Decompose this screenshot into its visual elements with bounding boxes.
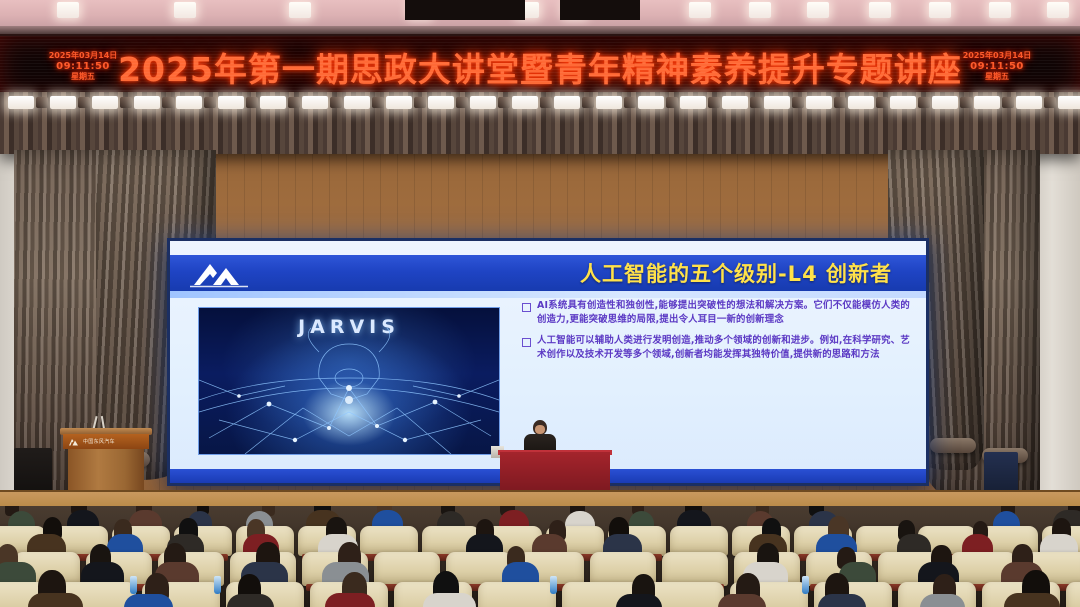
stage-light-icon <box>932 96 958 109</box>
stage-light-icon <box>176 96 202 109</box>
head-table <box>500 452 610 492</box>
audience-seat <box>662 552 728 586</box>
stage-light-housing <box>960 97 972 108</box>
stage-light-housing <box>918 97 930 108</box>
stage-light-housing <box>582 97 594 108</box>
stage-light-housing <box>78 97 90 108</box>
ceiling-light-icon <box>57 2 79 18</box>
stage-light-housing <box>36 97 48 108</box>
stage-light-icon <box>596 96 622 109</box>
audience-area <box>0 506 1080 607</box>
stage-light-icon <box>680 96 706 109</box>
led-clock-weekday: 星期五 <box>71 73 95 81</box>
stage-light-housing <box>540 97 552 108</box>
stage-light-row <box>0 96 1080 112</box>
audience-member-torso <box>616 594 662 607</box>
podium-nameplate-text: 中国东风汽车 <box>83 438 115 445</box>
led-clock-date: 2025年03月14日 <box>49 52 118 60</box>
slide-image-jarvis: JARVIS <box>198 307 500 455</box>
stage-light-housing <box>708 97 720 108</box>
audience-member-torso <box>920 594 966 607</box>
ceiling-recess <box>405 0 525 20</box>
audience-member-torso <box>818 594 866 607</box>
stage-light-housing <box>750 97 762 108</box>
stage-light-housing <box>246 97 258 108</box>
stage-light-housing <box>330 97 342 108</box>
stage-light-icon <box>722 96 748 109</box>
stage-light-icon <box>512 96 538 109</box>
water-bottle <box>802 576 809 594</box>
stage-light-icon <box>428 96 454 109</box>
list-item: AI系统具有创造性和独创性,能够提出突破性的想法和解决方案。它们不仅能模仿人类的… <box>522 299 910 327</box>
stage-light-housing <box>876 97 888 108</box>
bullet-square-icon <box>522 303 531 312</box>
led-clock-left: 2025年03月14日 09:11:50 星期五 <box>46 40 120 94</box>
stage-light-housing <box>1044 97 1056 108</box>
stage-light-icon <box>1058 96 1080 109</box>
slide-title: 人工智能的五个级别-L4 创新者 <box>170 258 892 288</box>
audience-member-torso <box>124 594 173 607</box>
stage-light-housing <box>120 97 132 108</box>
banner-headline: 2025年第一期思政大讲堂暨青年精神素养提升专题讲座 <box>120 42 960 92</box>
list-item: 人工智能可以辅助人类进行发明创造,推动多个领域的创新和进步。例如,在科学研究、艺… <box>522 334 910 362</box>
stage-light-housing <box>1002 97 1014 108</box>
stage-light-icon <box>890 96 916 109</box>
ceiling-light-icon <box>749 2 771 18</box>
ceiling-recess <box>560 0 640 20</box>
stage-light-icon <box>218 96 244 109</box>
slide-bullet-list: AI系统具有创造性和独创性,能够提出突破性的想法和解决方案。它们不仅能模仿人类的… <box>522 299 910 369</box>
stage-light-icon <box>806 96 832 109</box>
audience-seat <box>1066 582 1080 607</box>
stage-light-housing <box>498 97 510 108</box>
stage-light-icon <box>8 96 34 109</box>
stage-light-icon <box>260 96 286 109</box>
led-banner: 2025年03月14日 09:11:50 星期五 2025年第一期思政大讲堂暨青… <box>0 34 1080 100</box>
ceiling-light-icon <box>929 2 951 18</box>
podium-nameplate: 中国东风汽车 <box>63 434 149 449</box>
stage-light-housing <box>288 97 300 108</box>
podium-mountain-logo-icon <box>68 437 79 447</box>
audience-member-torso <box>325 593 375 607</box>
stage-light-icon <box>764 96 790 109</box>
ceiling-light-icon <box>1047 2 1069 18</box>
ceiling-light-icon <box>689 2 711 18</box>
led-clock-date-right: 2025年03月14日 <box>963 52 1032 60</box>
stage-light-housing <box>792 97 804 108</box>
ceiling-light-icon <box>989 2 1011 18</box>
bullet-square-icon <box>522 338 531 347</box>
stage-light-housing <box>624 97 636 108</box>
led-clock-right: 2025年03月14日 09:11:50 星期五 <box>960 40 1034 94</box>
stage-light-housing <box>834 97 846 108</box>
ai-network-graphic <box>199 308 499 454</box>
stage-light-icon <box>386 96 412 109</box>
audience-seat <box>374 552 440 586</box>
stage-light-icon <box>302 96 328 109</box>
stage-light-icon <box>638 96 664 109</box>
stage-light-icon <box>134 96 160 109</box>
stage-light-housing <box>456 97 468 108</box>
stage-light-housing <box>162 97 174 108</box>
audience-member-torso <box>227 594 274 607</box>
led-clock-weekday-right: 星期五 <box>985 73 1009 81</box>
stage-light-icon <box>1016 96 1042 109</box>
slide-header-bar: 人工智能的五个级别-L4 创新者 <box>170 255 926 291</box>
water-bottle <box>550 576 557 594</box>
ceiling-light-icon <box>869 2 891 18</box>
water-bottle <box>214 576 221 594</box>
ceiling-light-icon <box>807 2 829 18</box>
stage-light-housing <box>414 97 426 108</box>
stage-light-icon <box>92 96 118 109</box>
audience-member-torso <box>1004 593 1059 607</box>
stage-light-icon <box>470 96 496 109</box>
presenter-face <box>535 425 545 434</box>
curtain-tieback-right-2 <box>930 438 976 453</box>
bullet-text: AI系统具有创造性和独创性,能够提出突破性的想法和解决方案。它们不仅能模仿人类的… <box>537 299 910 327</box>
stage-light-housing <box>666 97 678 108</box>
stage-light-icon <box>974 96 1000 109</box>
led-clock-time: 09:11:50 <box>56 62 110 73</box>
audience-member-torso <box>28 593 83 607</box>
ceiling-light-icon <box>289 2 311 18</box>
stage-light-housing <box>204 97 216 108</box>
led-clock-time-right: 09:11:50 <box>970 62 1024 73</box>
audience-member-torso <box>718 594 766 607</box>
stage-light-icon <box>50 96 76 109</box>
water-bottle <box>130 576 137 594</box>
audience-member-torso <box>423 593 477 607</box>
auditorium-photo: 2025年03月14日 09:11:50 星期五 2025年第一期思政大讲堂暨青… <box>0 0 1080 607</box>
ceiling-light-icon <box>174 2 196 18</box>
audience-seat <box>478 582 556 607</box>
bullet-text: 人工智能可以辅助人类进行发明创造,推动多个领域的创新和进步。例如,在科学研究、艺… <box>537 334 910 362</box>
stage-light-icon <box>554 96 580 109</box>
stage-light-icon <box>344 96 370 109</box>
stage-light-housing <box>372 97 384 108</box>
stage-light-icon <box>848 96 874 109</box>
